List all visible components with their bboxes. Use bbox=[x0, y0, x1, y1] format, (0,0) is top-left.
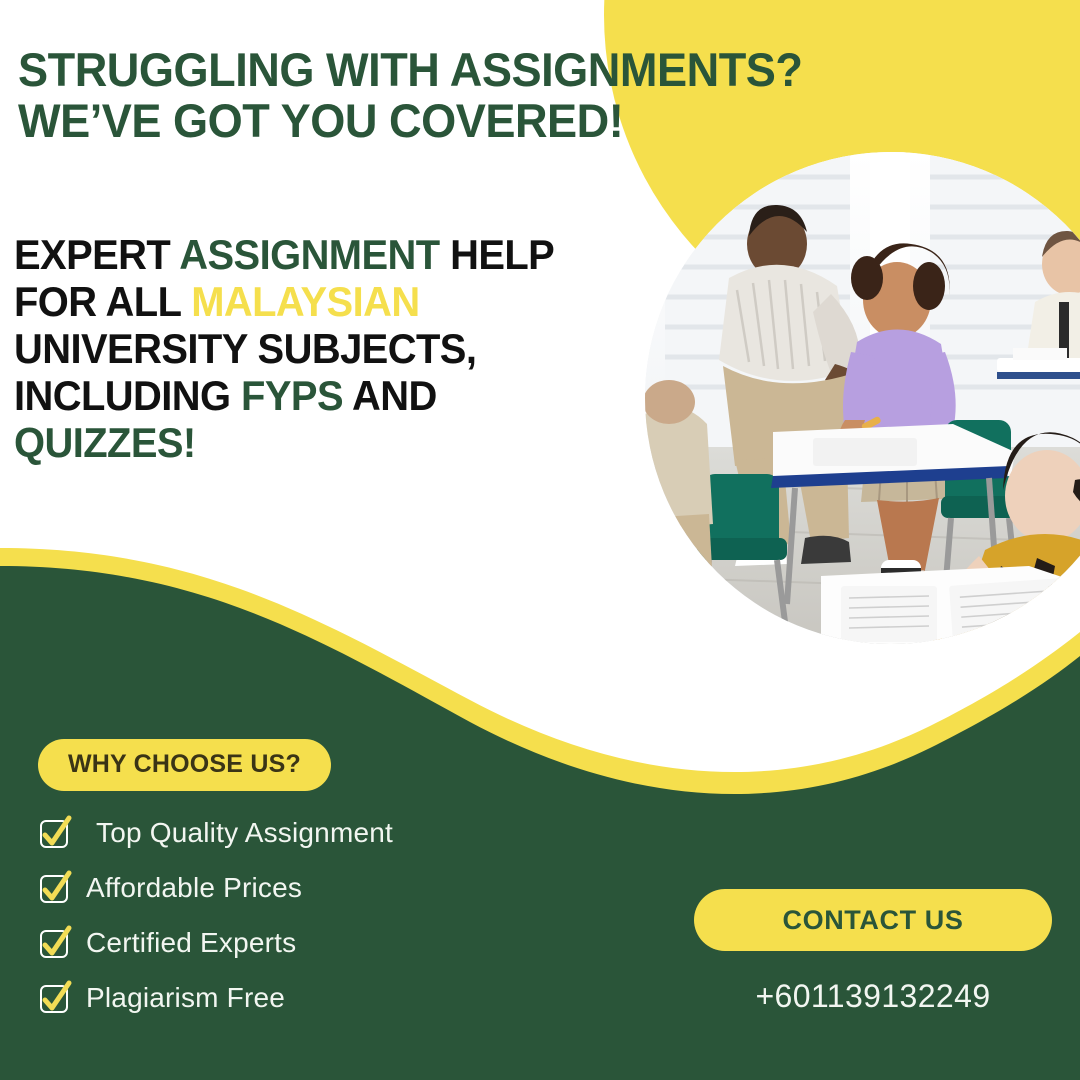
headline-line-2: WE’VE GOT YOU COVERED! bbox=[18, 96, 978, 146]
contact-us-button[interactable]: CONTACT US bbox=[694, 889, 1052, 951]
benefit-item: Top Quality Assignment bbox=[38, 805, 558, 860]
subheadline: EXPERT ASSIGNMENT HELP FOR ALL MALAYSIAN… bbox=[14, 231, 622, 466]
benefit-item: Plagiarism Free bbox=[38, 970, 558, 1025]
subheadline-segment-0: EXPERT bbox=[14, 231, 179, 278]
benefit-label: Certified Experts bbox=[86, 927, 296, 959]
benefit-label: Top Quality Assignment bbox=[86, 817, 393, 849]
page-title: STRUGGLING WITH ASSIGNMENTS? WE’VE GOT Y… bbox=[18, 45, 978, 146]
contact-phone-number[interactable]: +601139132249 bbox=[694, 978, 1052, 1015]
subheadline-segment-5: FYPS bbox=[241, 372, 352, 419]
checkbox-checked-icon bbox=[38, 871, 72, 905]
checkbox-checked-icon bbox=[38, 816, 72, 850]
headline-line-1: STRUGGLING WITH ASSIGNMENTS? bbox=[18, 43, 803, 96]
checkbox-checked-icon bbox=[38, 926, 72, 960]
benefit-label: Affordable Prices bbox=[86, 872, 302, 904]
benefit-item: Affordable Prices bbox=[38, 860, 558, 915]
subheadline-segment-1: ASSIGNMENT bbox=[179, 231, 450, 278]
subheadline-segment-7: QUIZZES! bbox=[14, 419, 196, 466]
subheadline-segment-6: AND bbox=[352, 372, 437, 419]
why-choose-us-badge: WHY CHOOSE US? bbox=[38, 739, 331, 791]
checkbox-checked-icon bbox=[38, 981, 72, 1015]
subheadline-segment-3: MALAYSIAN bbox=[191, 278, 419, 325]
benefit-item: Certified Experts bbox=[38, 915, 558, 970]
benefits-list: Top Quality AssignmentAffordable PricesC… bbox=[38, 805, 558, 1025]
benefit-label: Plagiarism Free bbox=[86, 982, 285, 1014]
promo-poster: STRUGGLING WITH ASSIGNMENTS? WE’VE GOT Y… bbox=[0, 0, 1080, 1080]
